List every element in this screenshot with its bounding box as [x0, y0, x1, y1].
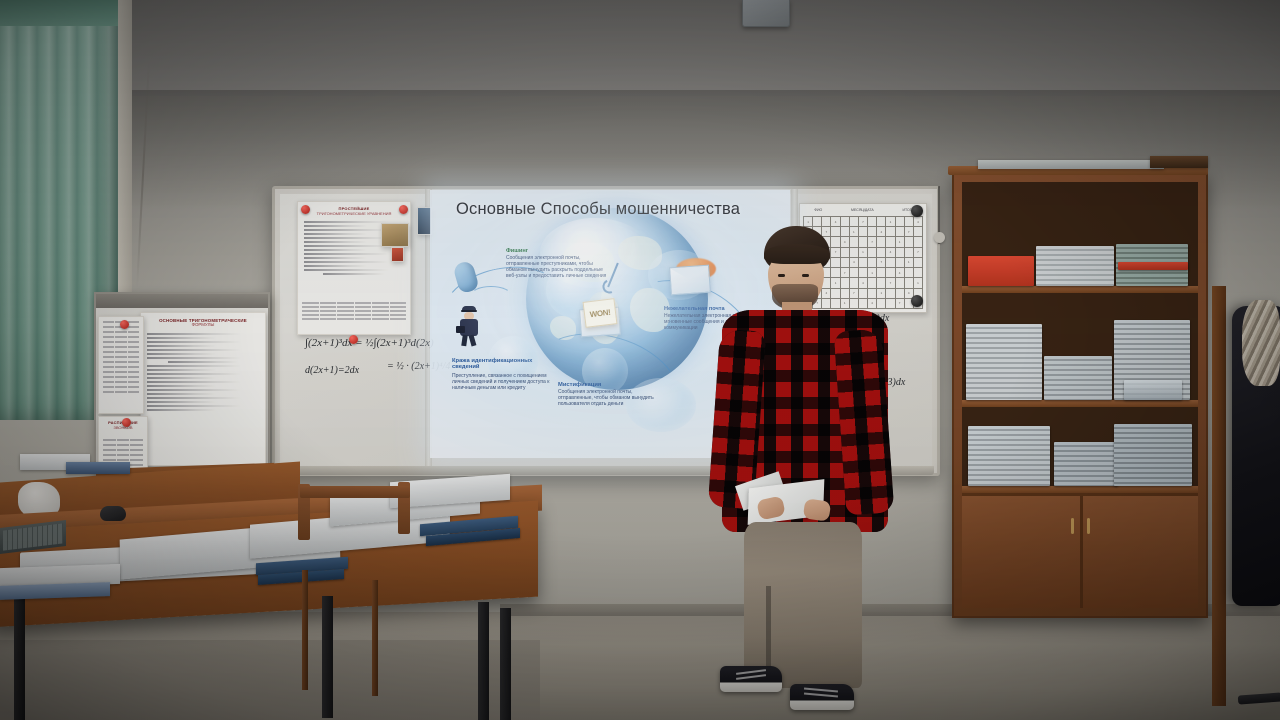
slide-block-phishing: Фишинг Сообщения электронной почты, отпр…: [506, 248, 610, 279]
magnet-icon[interactable]: [122, 418, 131, 427]
slide-block-hoax: Мистификация Сообщения электронной почты…: [558, 382, 668, 408]
chair-leg: [372, 580, 378, 696]
book-stack[interactable]: [968, 256, 1034, 286]
door-handle[interactable]: [1071, 518, 1074, 534]
grid-cell: [896, 248, 905, 258]
wooden-bookshelf[interactable]: [952, 172, 1208, 618]
magnet-icon[interactable]: [399, 205, 408, 214]
grid-col-label: МЕСЯЦ/ДАТА: [851, 208, 874, 212]
desk-leg: [478, 602, 489, 720]
grid-cell: [905, 278, 914, 288]
hair-fringe: [764, 244, 830, 264]
won-card-icon: WON!: [583, 298, 618, 328]
block-body: Преступление, связанное с похищением лич…: [452, 374, 552, 391]
mouse-cord-icon: [470, 286, 512, 306]
right-sneaker: [790, 684, 854, 710]
grid-cell: [896, 227, 905, 237]
grid-cell: 7: [914, 248, 923, 258]
grid-cell: [914, 237, 923, 247]
folder-on-top[interactable]: [1150, 156, 1208, 168]
left-sneaker: [720, 666, 782, 692]
magnet-icon[interactable]: [911, 205, 923, 217]
glassware[interactable]: [1124, 380, 1182, 400]
block-body: Сообщения электронной почты, отправленны…: [506, 256, 610, 279]
door-split: [1080, 496, 1083, 608]
book-stack[interactable]: [1114, 424, 1192, 486]
desk-leg: [322, 596, 333, 718]
envelope-icon: [669, 265, 711, 296]
magnet-icon[interactable]: [301, 205, 310, 214]
grid-cell: [905, 217, 914, 227]
grid-cell: [905, 248, 914, 258]
bookshelf-doors[interactable]: [962, 493, 1198, 608]
magnet-icon[interactable]: [911, 295, 923, 307]
book-stack[interactable]: [1044, 356, 1112, 400]
poster-formula-lines: [141, 333, 265, 411]
eye: [802, 274, 809, 277]
folder-stack[interactable]: [66, 462, 130, 474]
slide-title: Основные Способы мошенничества: [456, 200, 740, 219]
poster-subtitle: ТРИГОНОМЕТРИЧЕСКИЕ УРАВНЕНИЯ: [298, 212, 410, 216]
policeman-icon: [456, 306, 482, 346]
poster-subtitle: ФОРМУЛЫ: [141, 323, 265, 328]
right-hand: [803, 498, 832, 521]
grid-cell: [905, 237, 914, 247]
wall-socket[interactable]: [934, 232, 945, 243]
poster-trig-formulas: ОСНОВНЫЕ ТРИГОНОМЕТРИЧЕСКИЕ ФОРМУЛЫ: [140, 312, 266, 466]
desk-leg: [14, 590, 25, 720]
grid-cell: 4: [914, 217, 923, 227]
stand-header: [96, 294, 268, 308]
bookshelf-board: [962, 400, 1198, 407]
block-body: Сообщения электронной почты, отправленны…: [558, 390, 668, 407]
grid-cell: [914, 258, 923, 268]
magnet-icon[interactable]: [120, 320, 129, 329]
poster-value-table-top: [98, 316, 144, 414]
ceiling-fixture-icon: [742, 0, 790, 27]
bookshelf-board: [962, 486, 1198, 493]
block-heading: Фишинг: [506, 248, 610, 254]
papers-on-top[interactable]: [978, 160, 1164, 169]
block-heading: Кража идентификационных сведений: [452, 358, 552, 371]
won-card-text: WON!: [589, 307, 611, 318]
door-handle[interactable]: [1087, 518, 1090, 534]
room-floor-left: [0, 640, 540, 720]
grid-cell: [896, 278, 905, 288]
grid-cell: 7: [905, 227, 914, 237]
laptop-keyboard[interactable]: [3, 523, 63, 550]
chair-back-rail: [300, 486, 410, 498]
attendance-grid-header: ФИО МЕСЯЦ/ДАТА ИТОГ: [800, 204, 926, 215]
chair-leg: [302, 570, 308, 690]
poster-table: [103, 321, 139, 395]
coat-fur-collar: [1242, 300, 1280, 386]
pinned-photo: [391, 247, 404, 262]
grid-cell: [905, 268, 914, 278]
book-stack[interactable]: [1118, 262, 1188, 270]
door-frame: [1212, 286, 1226, 706]
pinned-photo: [381, 223, 409, 247]
whiteboard-handwriting: ∫(2x+1)³dx = ½∫(2x+1)³d(2x): [305, 337, 434, 349]
magnet-icon[interactable]: [349, 335, 358, 344]
grid-cell: 7: [896, 299, 905, 309]
blinds-headrail: [0, 0, 120, 26]
grid-cell: [896, 258, 905, 268]
student-presenter: [708, 226, 896, 720]
block-heading: Мистификация: [558, 382, 668, 388]
desk-leg: [500, 608, 511, 720]
book-stack[interactable]: [1054, 442, 1118, 486]
book-stack[interactable]: [968, 426, 1050, 486]
slide-block-identity-theft: Кража идентификационных сведений Преступ…: [452, 358, 552, 391]
poster-table: [302, 302, 406, 321]
computer-mouse[interactable]: [100, 506, 126, 521]
grid-cell: [896, 289, 905, 299]
grid-cell: [896, 217, 905, 227]
bookshelf-board: [962, 286, 1198, 293]
trousers: [744, 522, 862, 688]
room-ceiling: [0, 0, 1280, 96]
poster-trig-equations: ПРОСТЕЙШИЕ ТРИГОНОМЕТРИЧЕСКИЕ УРАВНЕНИЯ: [297, 201, 411, 335]
grid-cell: [914, 268, 923, 278]
poster-subtitle: ЗВОНКОВ: [99, 426, 147, 430]
grid-cell: 1: [914, 278, 923, 288]
grid-cell: 1: [905, 258, 914, 268]
whiteboard-handwriting: d(2x+1)=2dx: [305, 365, 359, 376]
grid-cell: 1: [896, 237, 905, 247]
grid-cell: [914, 227, 923, 237]
classroom-photo: ПРОСТЕЙШИЕ ТРИГОНОМЕТРИЧЕСКИЕ УРАВНЕНИЯ: [0, 0, 1280, 720]
grid-cell: 4: [896, 268, 905, 278]
eye: [778, 274, 785, 277]
grid-col-label: ФИО: [814, 208, 822, 212]
book-stack[interactable]: [1036, 246, 1114, 286]
book-stack[interactable]: [966, 324, 1042, 400]
